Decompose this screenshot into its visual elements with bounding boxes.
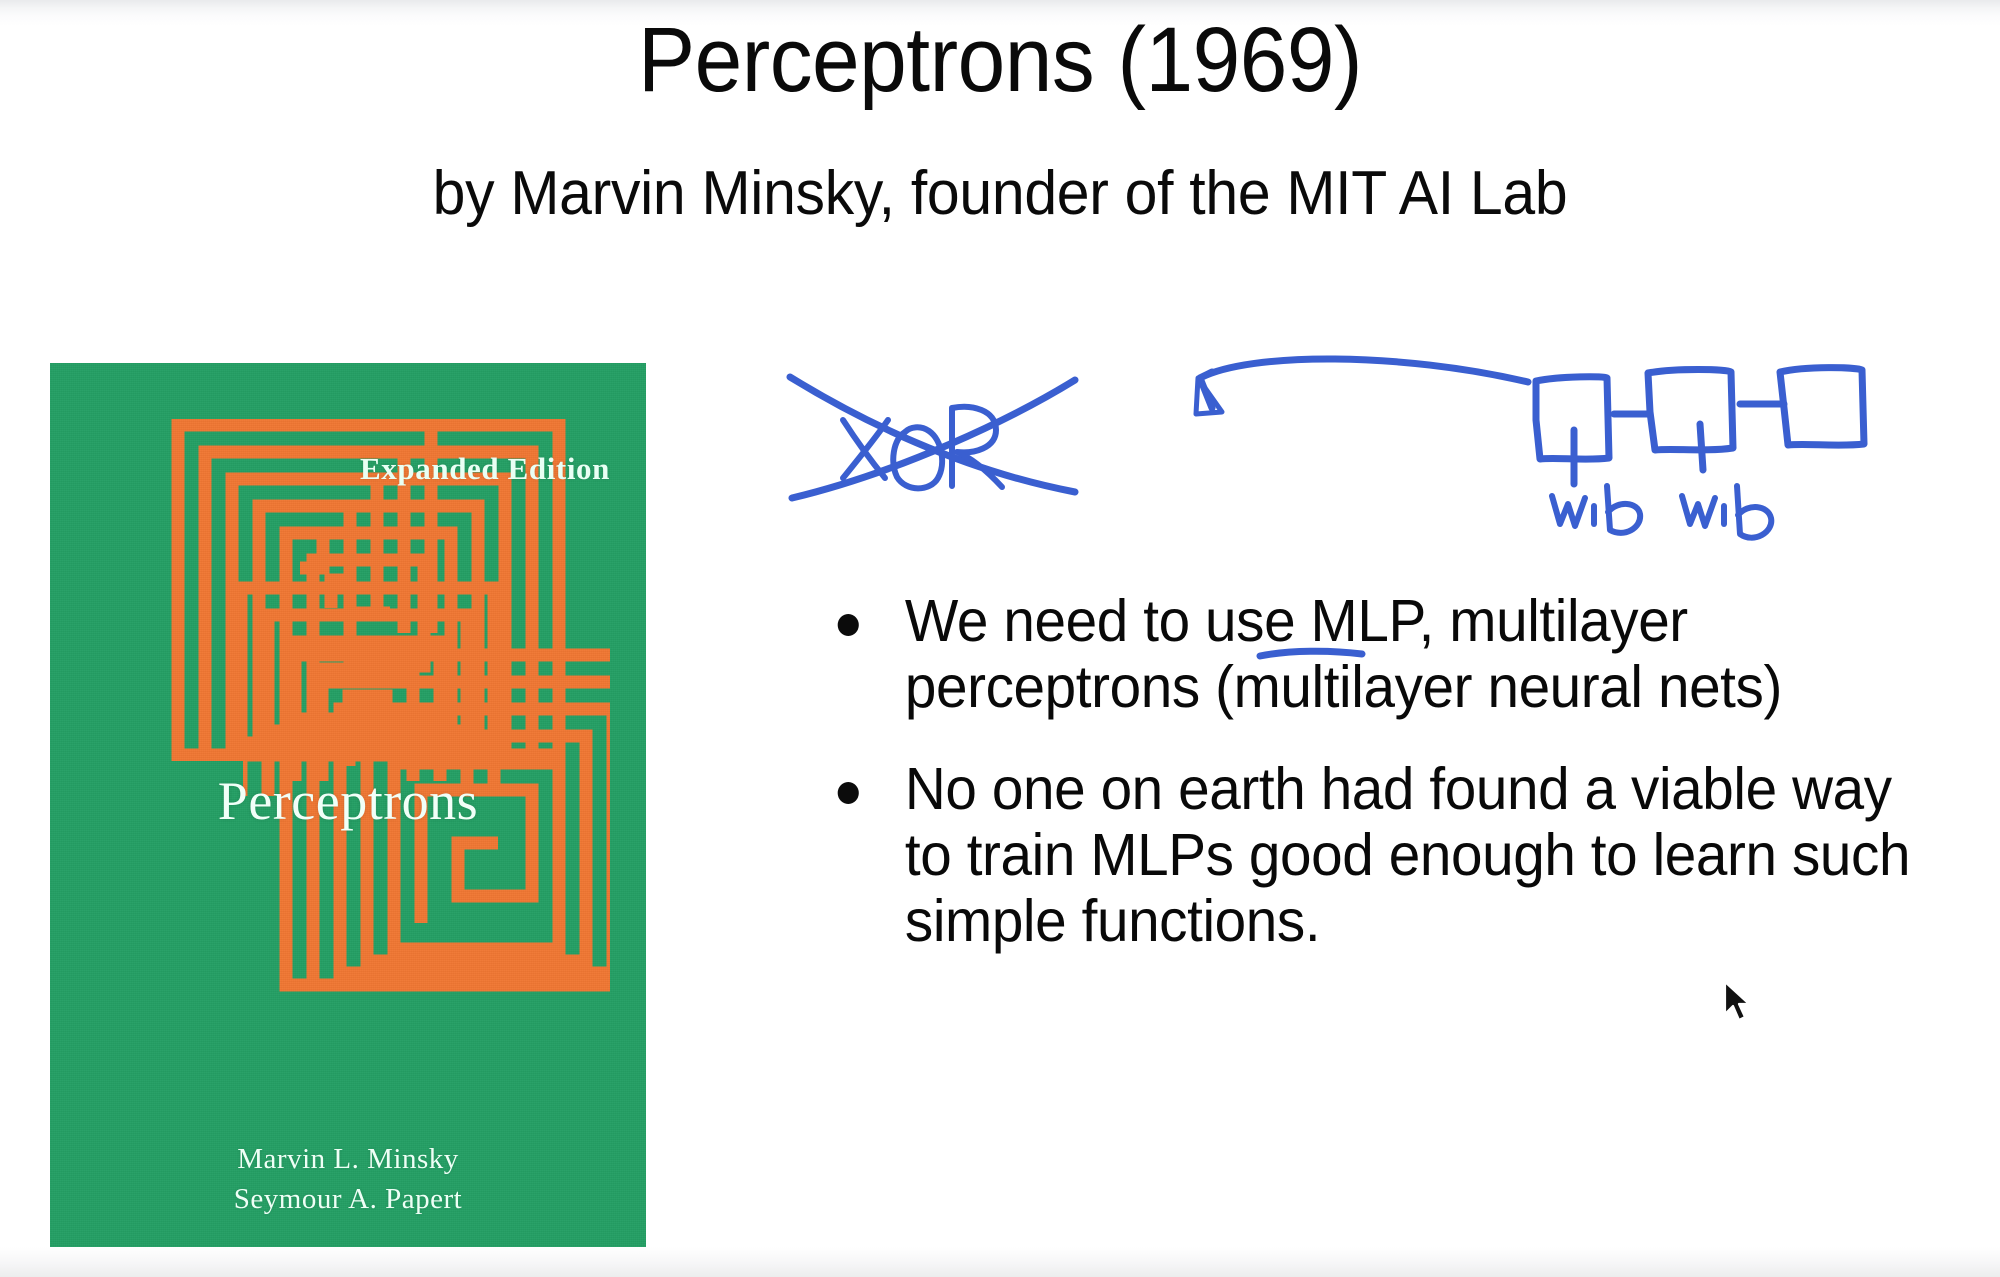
bullet-marker-icon	[838, 614, 859, 636]
strikethrough-stroke-1	[790, 377, 1075, 492]
bullet-item: We need to use MLP, multilayer perceptro…	[830, 588, 1934, 720]
bullet-text: No one on earth had found a viable way t…	[905, 756, 1934, 954]
cover-author-1: Marvin L. Minsky	[50, 1139, 646, 1179]
page-subtitle: by Marvin Minsky, founder of the MIT AI …	[50, 160, 1950, 228]
network-box-3	[1780, 368, 1864, 446]
cover-author-2: Seymour A. Papert	[50, 1179, 646, 1219]
strikethrough-stroke-2	[792, 380, 1075, 498]
xor-letter-x-a	[843, 420, 885, 478]
xor-letter-x-b	[843, 420, 888, 478]
weight-leader-2	[1700, 424, 1703, 470]
bullet-list: We need to use MLP, multilayer perceptro…	[830, 588, 1980, 990]
xor-letter-r	[952, 407, 1002, 487]
bullet-item: No one on earth had found a viable way t…	[830, 756, 1934, 954]
label-b-1	[1607, 486, 1640, 533]
curved-arrow-head-fill	[1196, 378, 1222, 414]
cover-authors: Marvin L. Minsky Seymour A. Papert	[50, 1139, 646, 1219]
bullet-text: We need to use MLP, multilayer perceptro…	[905, 588, 1934, 720]
cover-edition-label: Expanded Edition	[360, 451, 610, 487]
cover-title: Perceptrons	[50, 770, 646, 832]
book-cover-image: Expanded Edition Perceptrons Marvin L. M…	[50, 363, 646, 1253]
xor-letter-o	[893, 427, 942, 488]
slide-canvas: Perceptrons (1969) by Marvin Minsky, fou…	[0, 0, 2000, 1277]
curved-arrow-shaft	[1200, 359, 1528, 382]
bullet-marker-icon	[838, 782, 859, 804]
network-box-1	[1536, 377, 1609, 459]
label-w-2	[1682, 496, 1715, 526]
label-w-1	[1552, 496, 1585, 526]
page-title: Perceptrons (1969)	[70, 12, 1930, 110]
curved-arrow-head	[1200, 372, 1212, 408]
label-b-2	[1737, 486, 1771, 538]
network-box-2	[1648, 370, 1733, 451]
